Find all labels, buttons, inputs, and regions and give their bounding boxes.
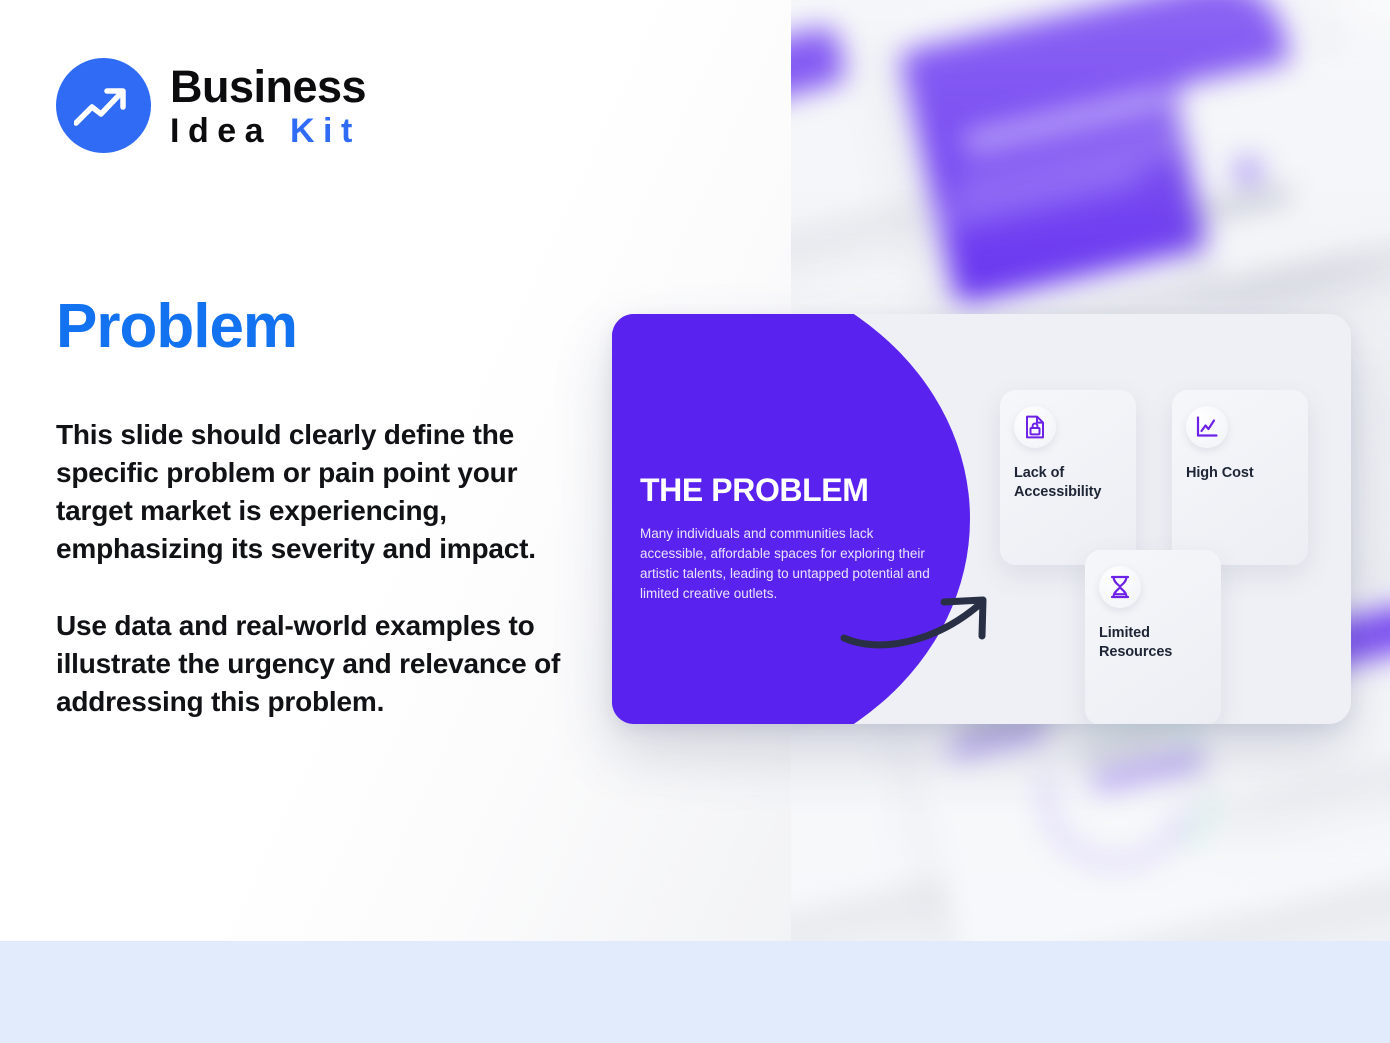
brand-name-idea: Idea (170, 112, 272, 150)
slide-preview-heading-group: THE PROBLEM Many individuals and communi… (640, 474, 940, 604)
feature-label: Limited Resources (1099, 624, 1207, 661)
feature-label: High Cost (1186, 464, 1294, 483)
page-title: Problem (56, 296, 297, 358)
brand-name-kit: Kit (290, 112, 361, 150)
bottom-color-band (0, 941, 1390, 1043)
body-paragraph-1: This slide should clearly define the spe… (56, 416, 566, 568)
feature-card-accessibility[interactable]: Lack of Accessibility (1000, 390, 1136, 565)
document-lock-icon (1014, 406, 1056, 448)
brand-name-line2: Idea Kit (170, 114, 366, 148)
feature-card-high-cost[interactable]: High Cost (1172, 390, 1308, 565)
slide-template-page: Business Idea Kit Problem This slide sho… (0, 0, 1390, 1043)
line-chart-icon (1186, 406, 1228, 448)
feature-card-limited-resources[interactable]: Limited Resources (1085, 550, 1221, 724)
slide-preview-card[interactable]: THE PROBLEM Many individuals and communi… (612, 314, 1351, 724)
brand-wordmark: Business Idea Kit (170, 64, 366, 148)
feature-label: Lack of Accessibility (1014, 464, 1122, 501)
trending-up-arrow-icon (56, 58, 151, 153)
brand-name-line1: Business (170, 64, 366, 109)
hourglass-icon (1099, 566, 1141, 608)
brand-logo[interactable]: Business Idea Kit (56, 58, 366, 153)
body-paragraph-2: Use data and real-world examples to illu… (56, 607, 566, 721)
curved-arrow-icon (840, 588, 1004, 657)
body-copy: This slide should clearly define the spe… (56, 416, 566, 722)
slide-preview-title: THE PROBLEM (640, 474, 940, 506)
